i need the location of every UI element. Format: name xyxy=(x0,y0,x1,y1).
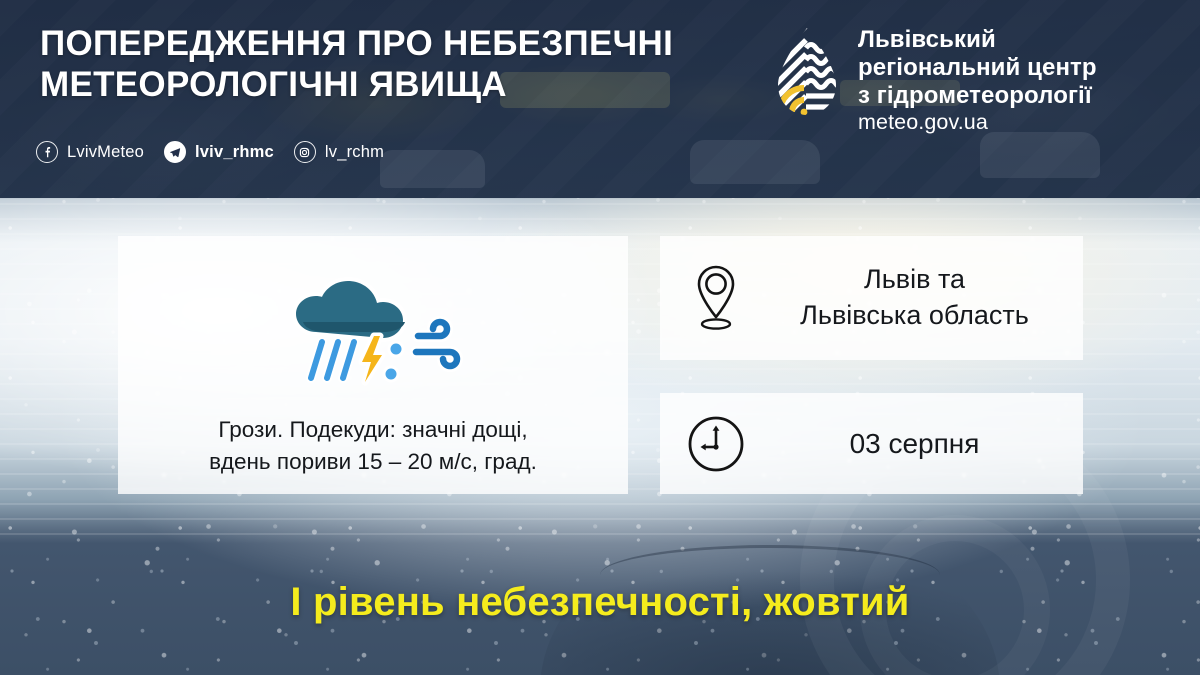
social-handle-instagram: lv_rchm xyxy=(325,143,384,162)
organization-logo-text: Львівський регіональний центр з гідромет… xyxy=(858,26,1200,137)
logo-line-2: регіональний центр xyxy=(858,54,1097,81)
danger-level-headline: І рівень небезпечності, жовтий xyxy=(0,580,1200,625)
forecast-text: Грози. Подекуди: значні дощі, вдень пори… xyxy=(118,414,628,478)
date-panel: 03 серпня xyxy=(660,393,1083,494)
region-panel: Львів та Львівська область xyxy=(660,236,1083,360)
page-title-line-2: МЕТЕОРОЛОГІЧНІ ЯВИЩА xyxy=(40,65,760,106)
date-text: 03 серпня xyxy=(772,425,1057,462)
social-links: LvivMeteo lviv_rhmc lv xyxy=(36,141,404,163)
region-row: Львів та Львівська область xyxy=(660,236,1083,360)
instagram-icon xyxy=(294,141,316,163)
forecast-text-line-1: Грози. Подекуди: значні дощі, xyxy=(118,414,628,446)
telegram-icon xyxy=(164,141,186,163)
date-row: 03 серпня xyxy=(660,393,1083,494)
social-link-telegram[interactable]: lviv_rhmc xyxy=(164,141,274,163)
social-handle-facebook: LvivMeteo xyxy=(67,143,144,162)
region-value: Львів та Львівська область xyxy=(772,262,1083,334)
date-value: 03 серпня xyxy=(772,425,1083,462)
social-link-facebook[interactable]: LvivMeteo xyxy=(36,141,144,163)
clock-icon xyxy=(660,413,772,475)
map-pin-icon xyxy=(660,263,772,333)
social-handle-telegram: lviv_rhmc xyxy=(195,143,274,162)
logo-line-1: Львівський xyxy=(858,26,996,53)
water-droplet-logo-icon xyxy=(770,26,844,124)
logo-website-url: meteo.gov.ua xyxy=(858,110,988,134)
forecast-panel: Грози. Подекуди: значні дощі, вдень пори… xyxy=(118,236,628,494)
page-title: ПОПЕРЕДЖЕННЯ ПРО НЕБЕЗПЕЧНІ МЕТЕОРОЛОГІЧ… xyxy=(40,24,760,105)
region-line-1: Львів та xyxy=(772,262,1057,298)
region-line-2: Львівська область xyxy=(772,298,1057,334)
facebook-icon xyxy=(36,141,58,163)
social-link-instagram[interactable]: lv_rchm xyxy=(294,141,384,163)
infographic-canvas: ПОПЕРЕДЖЕННЯ ПРО НЕБЕЗПЕЧНІ МЕТЕОРОЛОГІЧ… xyxy=(0,0,1200,675)
forecast-text-line-2: вдень пориви 15 – 20 м/с, град. xyxy=(118,446,628,478)
thunderstorm-rain-hail-wind-icon xyxy=(270,270,476,388)
header-banner: ПОПЕРЕДЖЕННЯ ПРО НЕБЕЗПЕЧНІ МЕТЕОРОЛОГІЧ… xyxy=(0,0,1200,198)
logo-line-3: з гідрометеорології xyxy=(858,82,1092,109)
organization-logo: Львівський регіональний центр з гідромет… xyxy=(770,26,1200,137)
page-title-line-1: ПОПЕРЕДЖЕННЯ ПРО НЕБЕЗПЕЧНІ xyxy=(40,24,760,65)
